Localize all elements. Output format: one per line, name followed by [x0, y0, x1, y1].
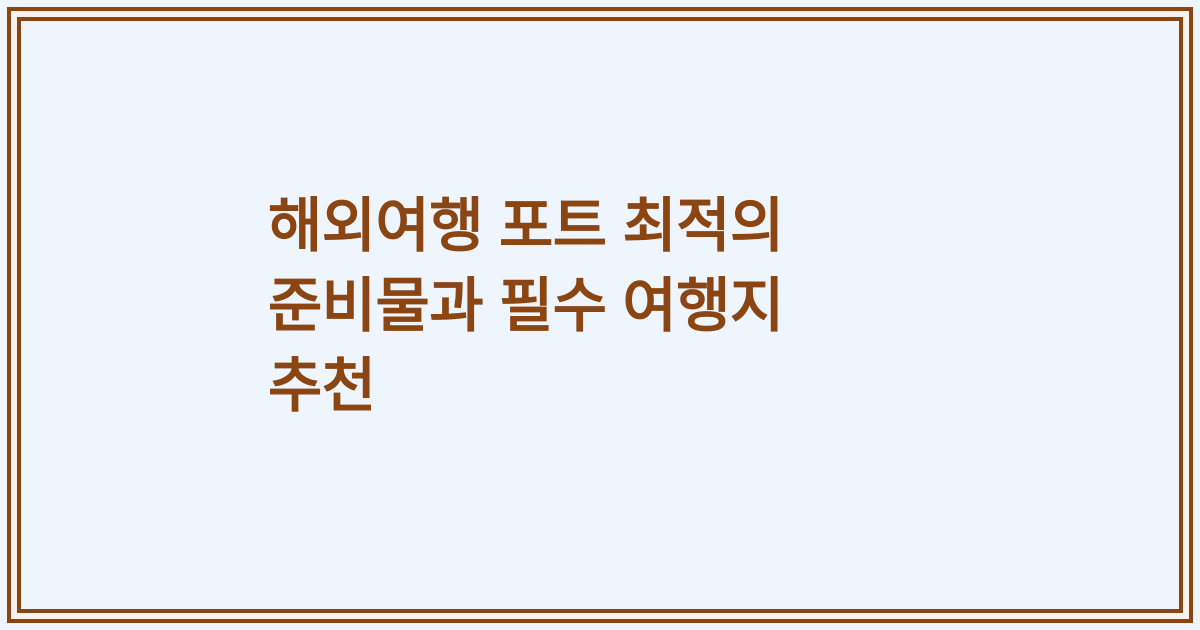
title-line-1: 해외여행 포트 최적의: [268, 186, 968, 266]
title-line-3: 추천: [268, 346, 968, 426]
title-block: 해외여행 포트 최적의 준비물과 필수 여행지 추천: [268, 186, 968, 426]
title-line-2: 준비물과 필수 여행지: [268, 266, 968, 346]
thumbnail-card: 해외여행 포트 최적의 준비물과 필수 여행지 추천: [0, 0, 1200, 630]
